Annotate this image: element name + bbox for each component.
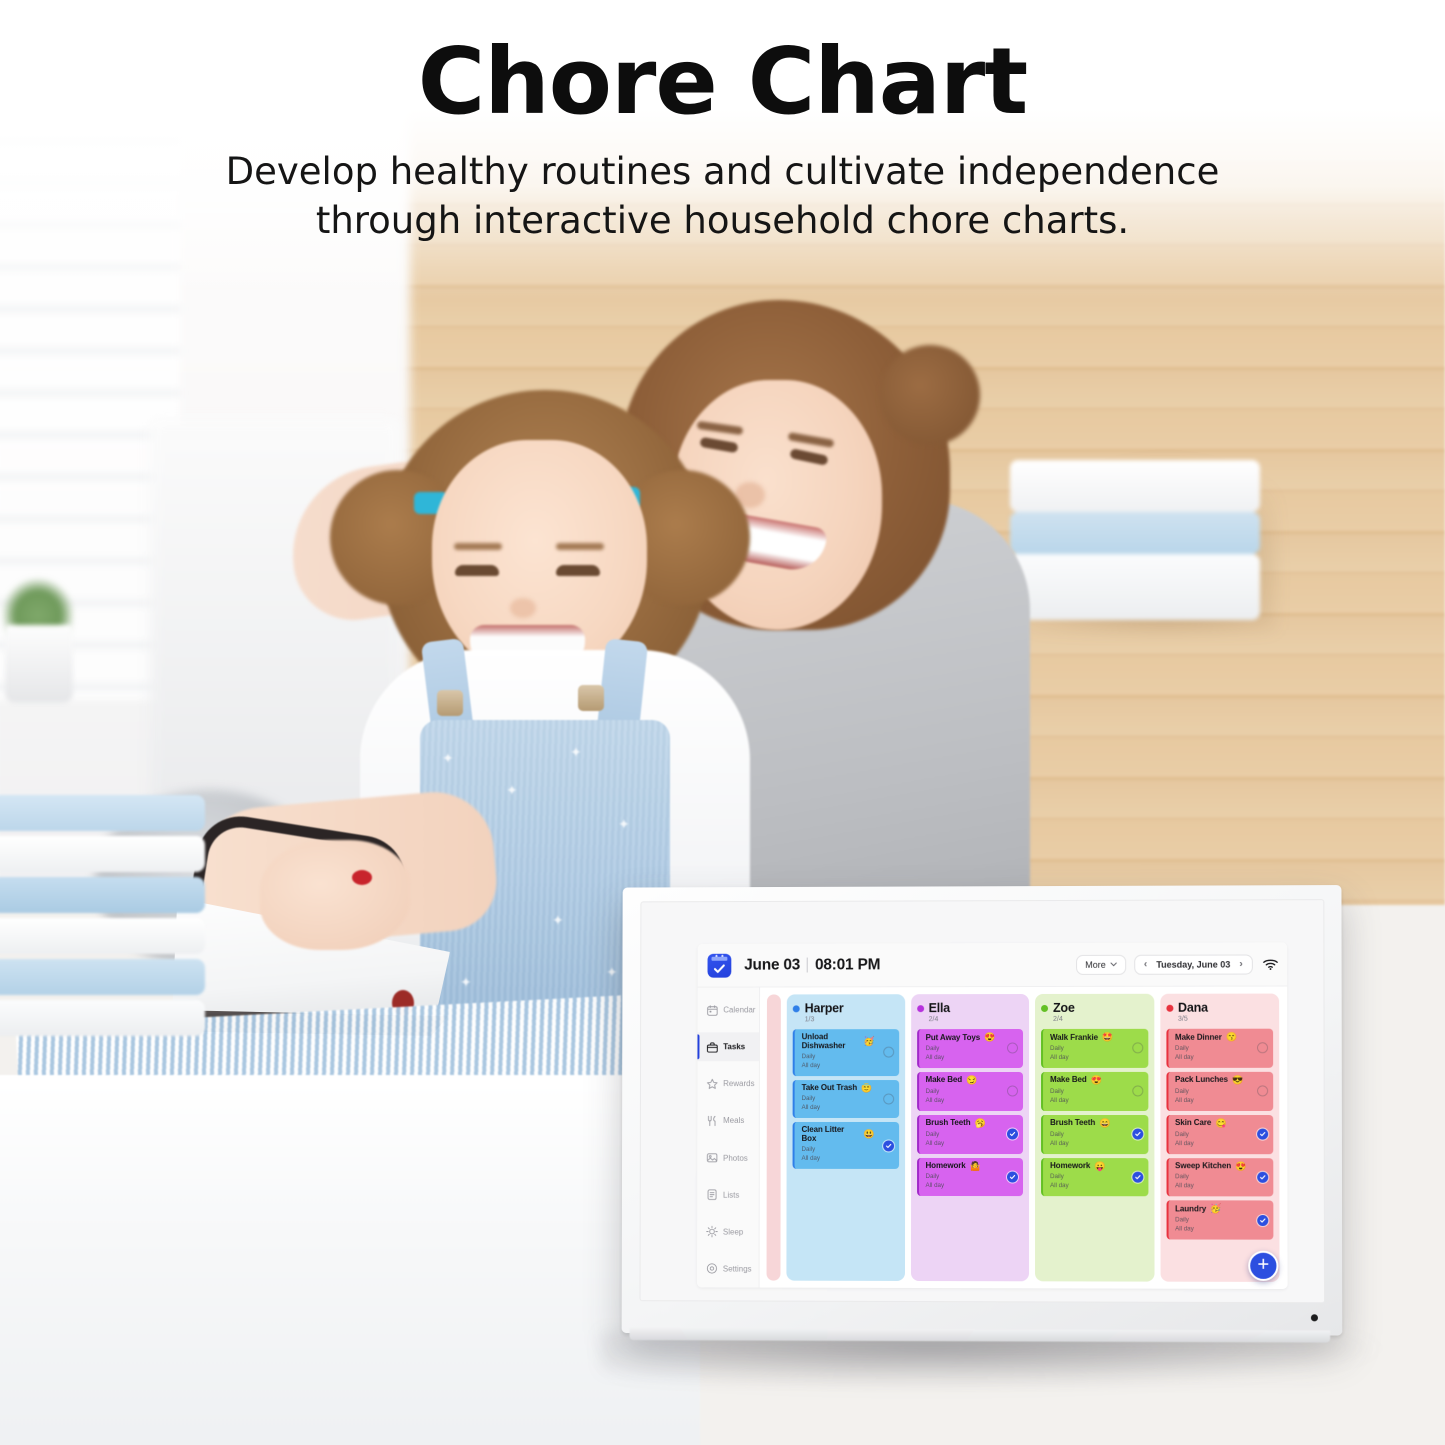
task-emoji-icon: 😍 [984,1033,995,1043]
task-time: All day [1050,1140,1142,1149]
partial-column-peek[interactable] [767,994,781,1280]
task-title: Make Bed😍 [1050,1076,1142,1086]
task-emoji-icon: 😍 [1091,1076,1102,1086]
chevron-down-icon [1110,962,1117,967]
add-task-button[interactable]: + [1248,1251,1278,1281]
task-time: All day [926,1140,1017,1149]
app-sidebar: CalendarTasksRewardsMealsPhotosListsSlee… [697,988,760,1288]
task-title: Walk Frankie🤩 [1050,1033,1142,1043]
task-time: All day [802,1104,893,1113]
task-checkbox-unchecked[interactable] [1257,1086,1268,1097]
subtitle-line-2: through interactive household chore char… [0,196,1445,245]
task-emoji-icon: 😛 [1094,1162,1105,1172]
sidebar-item-photos[interactable]: Photos [697,1143,759,1172]
task-card-list: Put Away Toys😍DailyAll dayMake Bed😏Daily… [917,1029,1023,1197]
column-header: Ella [917,1001,1023,1015]
task-repeat: Daily [1050,1088,1142,1097]
plant-pot [5,625,73,703]
task-repeat: Daily [926,1131,1017,1140]
app-topbar: June 03 08:01 PM More ‹ Tuesday, June 03 [698,942,1288,987]
task-time: All day [1175,1140,1267,1149]
task-emoji-icon: 😎 [1232,1076,1243,1086]
task-emoji-icon: 😇 [861,1084,872,1094]
task-repeat: Daily [1050,1131,1142,1140]
task-time: All day [1175,1097,1267,1106]
task-checkbox-unchecked[interactable] [1257,1043,1268,1054]
prev-day-button[interactable]: ‹ [1144,959,1147,969]
task-checkbox-checked[interactable] [1257,1172,1268,1183]
more-button[interactable]: More [1076,954,1126,974]
star-icon [706,1078,718,1090]
sidebar-item-tasks[interactable]: Tasks [697,1032,759,1061]
date-navigator[interactable]: ‹ Tuesday, June 03 › [1134,954,1253,974]
task-emoji-icon: 🥱 [974,1119,985,1129]
next-day-button[interactable]: › [1239,959,1242,969]
chore-chart-app: June 03 08:01 PM More ‹ Tuesday, June 03 [697,942,1288,1289]
current-time-label: 08:01 PM [815,956,880,974]
girl-eye-left [455,565,499,576]
task-repeat: Daily [1050,1174,1142,1183]
task-time: All day [1175,1054,1267,1063]
task-time: All day [1175,1226,1267,1235]
task-repeat: Daily [1175,1045,1267,1054]
sidebar-item-label: Photos [723,1153,748,1162]
task-card[interactable]: Clean Litter Box😃DailyAll day [793,1122,899,1169]
completion-count: 1/3 [805,1016,899,1023]
divider [807,958,808,973]
girl-nose [510,598,536,618]
member-name: Dana [1178,1001,1208,1015]
task-title: Skin Care😋 [1175,1119,1267,1129]
folded-laundry-stack [0,795,205,1041]
girl-hand [260,840,410,950]
task-checkbox-unchecked[interactable] [1132,1043,1143,1054]
utensils-icon [706,1115,718,1127]
task-repeat: Daily [1175,1131,1267,1140]
task-card-list: Unload Dishwasher🥳DailyAll dayTake Out T… [793,1029,899,1169]
task-title: Make Bed😏 [926,1076,1017,1086]
towel-stack [1010,460,1260,620]
task-title: Clean Litter Box😃 [802,1126,893,1144]
wifi-icon[interactable] [1263,958,1278,970]
task-card[interactable]: Put Away Toys😍DailyAll day [917,1029,1023,1068]
sidebar-item-label: Meals [723,1116,744,1125]
task-title: Unload Dishwasher🥳 [802,1033,893,1051]
task-card[interactable]: Homework🤷DailyAll day [917,1158,1023,1197]
task-emoji-icon: 😃 [864,1130,875,1140]
task-time: All day [1050,1054,1142,1063]
task-emoji-icon: 😄 [1099,1119,1110,1129]
task-card-list: Make Dinner😙DailyAll dayPack Lunches😎Dai… [1166,1029,1273,1240]
task-card[interactable]: Homework😛DailyAll day [1041,1158,1148,1197]
table-surface [0,1075,700,1445]
task-time: All day [801,1155,892,1164]
task-title: Brush Teeth😄 [1050,1119,1142,1129]
task-card[interactable]: Take Out Trash😇DailyAll day [793,1080,899,1119]
task-repeat: Daily [926,1088,1017,1097]
calendar-icon [706,1004,718,1016]
task-repeat: Daily [802,1095,893,1104]
completion-count: 2/4 [929,1016,1023,1023]
ambient-light-sensor [1311,1314,1318,1321]
task-title: Pack Lunches😎 [1175,1076,1267,1086]
task-repeat: Daily [926,1173,1017,1182]
mother-hair-bun [880,345,980,445]
completion-count: 3/5 [1178,1016,1273,1023]
overall-buckle-right [578,685,604,711]
task-checkbox-checked[interactable] [1257,1129,1268,1140]
column-header: Harper [793,1001,899,1015]
smart-display-device: June 03 08:01 PM More ‹ Tuesday, June 03 [622,885,1343,1335]
task-checkbox-checked[interactable] [883,1140,894,1151]
task-card[interactable]: Skin Care😋DailyAll day [1166,1115,1273,1154]
task-card[interactable]: Sweep Kitchen😍DailyAll day [1166,1158,1273,1197]
task-title: Homework🤷 [926,1162,1017,1172]
task-card[interactable]: Brush Teeth🥱DailyAll day [917,1115,1023,1154]
task-time: All day [926,1054,1017,1063]
task-column-dana[interactable]: Dana3/5Make Dinner😙DailyAll dayPack Lunc… [1160,994,1280,1282]
topbar-controls: More ‹ Tuesday, June 03 › [1076,954,1278,974]
completion-count: 2/4 [1053,1016,1148,1023]
sidebar-item-label: Sleep [723,1227,743,1236]
task-card[interactable]: Laundry🥳DailyAll day [1166,1201,1273,1240]
task-emoji-icon: 😙 [1226,1033,1237,1043]
task-card[interactable]: Make Dinner😙DailyAll day [1166,1029,1273,1068]
subtitle-line-1: Develop healthy routines and cultivate i… [0,147,1445,196]
task-board[interactable]: Harper1/3Unload Dishwasher🥳DailyAll dayT… [760,987,1288,1290]
task-repeat: Daily [802,1053,893,1062]
task-repeat: Daily [1175,1088,1267,1097]
task-emoji-icon: 🤩 [1102,1033,1113,1043]
sidebar-item-label: Rewards [723,1079,754,1088]
task-checkbox-unchecked[interactable] [1007,1043,1018,1054]
member-color-dot [793,1005,800,1012]
member-name: Ella [929,1001,950,1015]
task-time: All day [1050,1097,1142,1106]
task-card[interactable]: Walk Frankie🤩DailyAll day [1041,1029,1148,1068]
task-emoji-icon: 🥳 [1210,1205,1221,1215]
plus-icon: + [1257,1255,1269,1275]
task-repeat: Daily [802,1146,893,1155]
task-emoji-icon: 😋 [1215,1119,1226,1129]
task-emoji-icon: 🥳 [864,1037,875,1047]
gear-icon [706,1263,718,1275]
task-emoji-icon: 😍 [1235,1162,1246,1172]
task-checkbox-unchecked[interactable] [1132,1086,1143,1097]
sidebar-item-label: Tasks [723,1042,745,1051]
task-checkbox-unchecked[interactable] [883,1094,894,1105]
task-title: Make Dinner😙 [1175,1033,1267,1043]
girl-eye-right [556,565,600,576]
task-repeat: Daily [1050,1045,1142,1054]
girl-brow-right [556,543,604,550]
member-color-dot [1041,1004,1048,1011]
more-label: More [1085,959,1106,969]
task-time: All day [802,1062,893,1071]
current-date-label: June 03 [744,956,800,974]
task-column-zoe[interactable]: Zoe2/4Walk Frankie🤩DailyAll dayMake Bed😍… [1035,994,1154,1282]
task-card[interactable]: Brush Teeth😄DailyAll day [1041,1115,1148,1154]
task-emoji-icon: 🤷 [970,1162,981,1172]
task-title: Sweep Kitchen😍 [1175,1162,1267,1172]
member-name: Harper [805,1001,844,1015]
column-header: Zoe [1041,1001,1148,1015]
task-time: All day [1175,1183,1267,1192]
page-subtitle: Develop healthy routines and cultivate i… [0,147,1445,245]
list-icon [706,1189,718,1201]
member-color-dot [1166,1004,1173,1011]
fingernail [352,870,372,885]
sidebar-item-settings[interactable]: Settings [697,1254,759,1283]
sidebar-item-meals[interactable]: Meals [697,1106,759,1135]
task-time: All day [926,1182,1017,1191]
task-checkbox-checked[interactable] [1007,1172,1018,1183]
photo-icon [706,1152,718,1164]
device-bezel: June 03 08:01 PM More ‹ Tuesday, June 03 [640,899,1326,1303]
task-checkbox-unchecked[interactable] [883,1047,894,1058]
task-card-list: Walk Frankie🤩DailyAll dayMake Bed😍DailyA… [1041,1029,1148,1197]
task-column-ella[interactable]: Ella2/4Put Away Toys😍DailyAll dayMake Be… [910,994,1029,1281]
calendar-check-icon[interactable] [708,953,732,977]
task-card[interactable]: Make Bed😏DailyAll day [917,1072,1023,1111]
sidebar-item-label: Settings [723,1264,752,1273]
sidebar-item-sleep[interactable]: Sleep [697,1217,759,1246]
task-card[interactable]: Make Bed😍DailyAll day [1041,1072,1148,1111]
marketing-header: Chore Chart Develop healthy routines and… [0,0,1445,245]
task-title: Laundry🥳 [1175,1205,1267,1215]
task-checkbox-checked[interactable] [1132,1129,1143,1140]
app-body: CalendarTasksRewardsMealsPhotosListsSlee… [697,987,1288,1290]
selected-date-label: Tuesday, June 03 [1156,959,1230,969]
sidebar-item-lists[interactable]: Lists [697,1180,759,1209]
member-name: Zoe [1053,1001,1075,1015]
girl-brow-left [454,543,502,550]
task-checkbox-unchecked[interactable] [1007,1086,1018,1097]
page-title: Chore Chart [0,34,1445,131]
sidebar-item-label: Calendar [723,1005,755,1014]
task-checkbox-checked[interactable] [1257,1215,1268,1226]
sidebar-item-calendar[interactable]: Calendar [698,996,760,1025]
sidebar-item-rewards[interactable]: Rewards [697,1069,759,1098]
task-checkbox-checked[interactable] [1007,1129,1018,1140]
overall-buckle-left [437,690,463,716]
task-title: Take Out Trash😇 [802,1084,893,1094]
member-color-dot [917,1005,924,1012]
device-stand [630,1328,1331,1342]
task-card[interactable]: Unload Dishwasher🥳DailyAll day [793,1029,899,1076]
sidebar-item-label: Lists [723,1190,739,1199]
task-title: Put Away Toys😍 [926,1033,1017,1043]
date-time-display: June 03 08:01 PM [744,956,880,974]
tasks-icon [706,1041,718,1053]
task-repeat: Daily [1175,1174,1267,1183]
task-repeat: Daily [926,1045,1017,1054]
task-repeat: Daily [1175,1217,1267,1226]
task-card[interactable]: Pack Lunches😎DailyAll day [1166,1072,1273,1111]
column-header: Dana [1166,1001,1273,1015]
task-title: Homework😛 [1050,1162,1142,1172]
task-title: Brush Teeth🥱 [926,1119,1017,1129]
task-time: All day [1050,1183,1142,1192]
sun-icon [706,1226,718,1238]
task-emoji-icon: 😏 [966,1076,977,1086]
task-time: All day [926,1097,1017,1106]
task-column-harper[interactable]: Harper1/3Unload Dishwasher🥳DailyAll dayT… [786,994,904,1281]
task-checkbox-checked[interactable] [1132,1172,1143,1183]
